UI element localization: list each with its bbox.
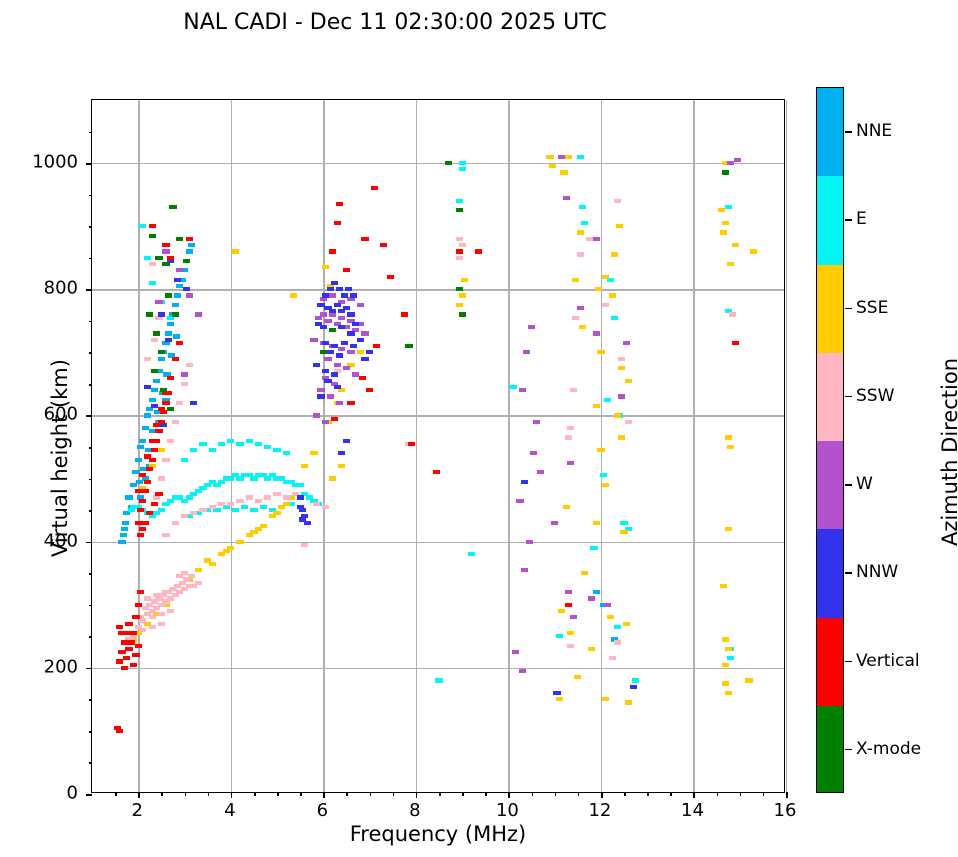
- echo-point: [144, 480, 151, 484]
- x-tick-minor: [485, 792, 487, 796]
- echo-point: [195, 568, 202, 572]
- y-tick-major: [86, 163, 92, 165]
- echo-point: [720, 230, 727, 234]
- echo-point: [727, 262, 734, 266]
- echo-point: [155, 429, 162, 433]
- echo-point: [614, 640, 621, 644]
- echo-point: [151, 369, 158, 373]
- echo-point: [625, 420, 632, 424]
- colorbar-segment-ssw[interactable]: [817, 353, 843, 442]
- echo-point: [590, 546, 597, 550]
- echo-point: [137, 533, 144, 537]
- echo-point: [456, 287, 463, 291]
- echo-point: [188, 243, 195, 247]
- echo-point: [183, 259, 190, 263]
- echo-point: [153, 423, 160, 427]
- colorbar-label-nne: NNE: [856, 121, 892, 141]
- colorbar: [816, 87, 844, 793]
- echo-point: [181, 458, 188, 462]
- echo-point: [602, 303, 609, 307]
- echo-point: [162, 401, 169, 405]
- echo-point: [246, 439, 253, 443]
- echo-point: [727, 656, 734, 660]
- echo-point: [260, 505, 267, 509]
- echo-point: [158, 350, 165, 354]
- echo-point: [123, 656, 130, 660]
- echo-point: [512, 650, 519, 654]
- y-tick-minor: [89, 352, 93, 354]
- echo-point: [158, 476, 165, 480]
- y-tick-major: [86, 415, 92, 417]
- echo-point: [361, 237, 368, 241]
- echo-point: [162, 533, 169, 537]
- y-tick-minor: [89, 384, 93, 386]
- echo-point: [604, 603, 611, 607]
- x-tick-minor: [740, 792, 742, 796]
- echo-point: [255, 442, 262, 446]
- echo-point: [526, 540, 533, 544]
- echo-point: [155, 300, 162, 304]
- echo-point: [509, 385, 516, 389]
- echo-point: [167, 407, 174, 411]
- colorbar-label-ssw: SSW: [856, 386, 894, 406]
- x-tick-label: 2: [132, 800, 143, 821]
- echo-point: [593, 331, 600, 335]
- y-tick-label: 800: [0, 278, 78, 299]
- x-tick-minor: [670, 792, 672, 796]
- echo-point: [725, 691, 732, 695]
- echo-point: [322, 341, 329, 345]
- echo-point: [158, 622, 165, 626]
- echo-point: [139, 499, 146, 503]
- echo-point: [135, 603, 142, 607]
- echo-point: [567, 644, 574, 648]
- echo-point: [223, 549, 230, 553]
- echo-point: [357, 303, 364, 307]
- echo-point: [593, 521, 600, 525]
- echo-point: [172, 521, 179, 525]
- echo-point: [299, 517, 306, 521]
- echo-point: [625, 700, 632, 704]
- echo-point: [135, 489, 142, 493]
- echo-point: [130, 631, 137, 635]
- x-tick-major: [693, 792, 695, 798]
- echo-point: [135, 644, 142, 648]
- echo-point: [310, 451, 317, 455]
- echo-point: [528, 325, 535, 329]
- echo-point: [149, 224, 156, 228]
- echo-point: [341, 293, 348, 297]
- echo-point: [186, 293, 193, 297]
- echo-point: [158, 612, 165, 616]
- echo-point: [456, 303, 463, 307]
- echo-point: [324, 357, 331, 361]
- echo-point: [151, 448, 158, 452]
- echo-point: [597, 350, 604, 354]
- echo-point: [722, 637, 729, 641]
- echo-point: [142, 489, 149, 493]
- y-tick-minor: [89, 226, 93, 228]
- echo-point: [341, 341, 348, 345]
- echo-point: [338, 451, 345, 455]
- x-tick-major: [416, 792, 418, 798]
- echo-point: [153, 593, 160, 597]
- echo-point: [357, 350, 364, 354]
- echo-point: [595, 287, 602, 291]
- echo-point: [456, 256, 463, 260]
- echo-point: [565, 603, 572, 607]
- echo-point: [118, 540, 125, 544]
- echo-point: [630, 685, 637, 689]
- echo-point: [116, 625, 123, 629]
- echo-point: [565, 435, 572, 439]
- echo-point: [718, 208, 725, 212]
- echo-point: [556, 697, 563, 701]
- echo-point: [533, 420, 540, 424]
- echo-point: [190, 448, 197, 452]
- echo-point: [255, 499, 262, 503]
- echo-point: [614, 625, 621, 629]
- echo-point: [329, 249, 336, 253]
- echo-point: [558, 609, 565, 613]
- echo-point: [273, 511, 280, 515]
- echo-point: [322, 369, 329, 373]
- echo-point: [218, 442, 225, 446]
- echo-point: [176, 268, 183, 272]
- echo-point: [579, 325, 586, 329]
- echo-point: [334, 363, 341, 367]
- echo-point: [301, 464, 308, 468]
- echo-point: [732, 341, 739, 345]
- echo-point: [722, 681, 729, 685]
- echo-point: [176, 341, 183, 345]
- echo-point: [371, 186, 378, 190]
- ionogram-plot-area: [91, 99, 785, 793]
- echo-point: [144, 413, 151, 417]
- x-tick-minor: [393, 792, 395, 796]
- echo-point: [188, 574, 195, 578]
- echo-point: [153, 379, 160, 383]
- echo-point: [297, 495, 304, 499]
- y-tick-minor: [89, 479, 93, 481]
- x-tick-major: [231, 792, 233, 798]
- echo-point: [118, 631, 125, 635]
- echo-point: [456, 237, 463, 241]
- x-tick-minor: [300, 792, 302, 796]
- x-tick-minor: [208, 792, 210, 796]
- echo-point: [516, 499, 523, 503]
- echo-point: [120, 533, 127, 537]
- echo-point: [725, 435, 732, 439]
- echo-point: [264, 445, 271, 449]
- echo-point: [435, 678, 442, 682]
- echo-point: [373, 344, 380, 348]
- echo-point: [227, 502, 234, 506]
- echo-point: [137, 590, 144, 594]
- echo-point: [366, 350, 373, 354]
- echo-point: [553, 691, 560, 695]
- echo-point: [181, 382, 188, 386]
- echo-point: [236, 499, 243, 503]
- echo-point: [456, 208, 463, 212]
- echo-point: [475, 249, 482, 253]
- echo-point: [137, 508, 144, 512]
- echo-point: [357, 338, 364, 342]
- y-tick-minor: [89, 636, 93, 638]
- echo-point: [614, 413, 621, 417]
- echo-point: [618, 435, 625, 439]
- echo-point: [144, 357, 151, 361]
- colorbar-segment-nne[interactable]: [817, 88, 843, 177]
- x-tick-minor: [763, 792, 765, 796]
- echo-point: [176, 401, 183, 405]
- echo-point: [142, 426, 149, 430]
- colorbar-label-w: W: [856, 474, 873, 494]
- echo-point: [167, 376, 174, 380]
- echo-point: [125, 622, 132, 626]
- echo-point: [162, 249, 169, 253]
- echo-point: [151, 502, 158, 506]
- echo-point: [331, 372, 338, 376]
- echo-point: [273, 492, 280, 496]
- colorbar-label: Azimuth Direction: [938, 202, 958, 702]
- echo-scatter-canvas: [92, 100, 784, 792]
- echo-point: [144, 454, 151, 458]
- colorbar-segment-vertical[interactable]: [817, 618, 843, 707]
- echo-point: [611, 252, 618, 256]
- x-tick-label: 8: [409, 800, 420, 821]
- colorbar-label-vertical: Vertical: [856, 651, 920, 671]
- echo-point: [151, 338, 158, 342]
- echo-point: [250, 508, 257, 512]
- colorbar-tick: [845, 219, 852, 221]
- echo-point: [137, 445, 144, 449]
- echo-point: [331, 281, 338, 285]
- echo-point: [725, 205, 732, 209]
- echo-point: [347, 331, 354, 335]
- y-tick-minor: [89, 573, 93, 575]
- y-tick-label: 200: [0, 656, 78, 677]
- echo-point: [459, 293, 466, 297]
- colorbar-tick: [845, 661, 852, 663]
- echo-point: [604, 398, 611, 402]
- echo-point: [173, 334, 180, 338]
- y-tick-label: 0: [0, 783, 78, 804]
- echo-point: [125, 647, 132, 651]
- echo-point: [581, 221, 588, 225]
- echo-point: [732, 243, 739, 247]
- colorbar-segment-w[interactable]: [817, 441, 843, 530]
- y-tick-minor: [89, 132, 93, 134]
- y-tick-label: 600: [0, 404, 78, 425]
- echo-point: [158, 448, 165, 452]
- y-tick-minor: [89, 321, 93, 323]
- echo-point: [343, 306, 350, 310]
- colorbar-segment-e[interactable]: [817, 176, 843, 265]
- echo-point: [563, 196, 570, 200]
- echo-point: [329, 328, 336, 332]
- x-tick-minor: [439, 792, 441, 796]
- y-tick-label: 1000: [0, 152, 78, 173]
- page-title: NAL CADI - Dec 11 02:30:00 2025 UTC: [0, 10, 790, 35]
- echo-point: [734, 158, 741, 162]
- echo-point: [593, 590, 600, 594]
- echo-point: [317, 394, 324, 398]
- echo-point: [343, 366, 350, 370]
- x-axis-label: Frequency (MHz): [91, 822, 785, 846]
- echo-point: [167, 609, 174, 613]
- echo-point: [602, 697, 609, 701]
- echo-point: [405, 344, 412, 348]
- echo-point: [320, 350, 327, 354]
- echo-point: [172, 303, 179, 307]
- y-tick-minor: [89, 195, 93, 197]
- echo-point: [567, 461, 574, 465]
- colorbar-segment-sse[interactable]: [817, 265, 843, 354]
- echo-point: [167, 256, 174, 260]
- echo-point: [158, 407, 165, 411]
- echo-point: [558, 155, 565, 159]
- echo-point: [549, 164, 556, 168]
- y-tick-minor: [89, 605, 93, 607]
- echo-point: [264, 495, 271, 499]
- colorbar-tick: [845, 131, 852, 133]
- echo-point: [313, 363, 320, 367]
- echo-point: [153, 331, 160, 335]
- echo-point: [125, 495, 132, 499]
- echo-point: [588, 596, 595, 600]
- echo-point: [283, 495, 290, 499]
- echo-point: [149, 398, 156, 402]
- echo-point: [144, 385, 151, 389]
- echo-point: [334, 385, 341, 389]
- echo-point: [324, 319, 331, 323]
- echo-point: [530, 451, 537, 455]
- echo-point: [165, 331, 172, 335]
- echo-point: [172, 357, 179, 361]
- echo-point: [165, 293, 172, 297]
- echo-point: [611, 316, 618, 320]
- echo-point: [236, 442, 243, 446]
- echo-point: [350, 293, 357, 297]
- y-tick-label: 400: [0, 530, 78, 551]
- colorbar-segment-nnw[interactable]: [817, 529, 843, 618]
- echo-point: [174, 293, 181, 297]
- x-tick-minor: [624, 792, 626, 796]
- echo-point: [729, 312, 736, 316]
- echo-point: [347, 312, 354, 316]
- echo-point: [551, 521, 558, 525]
- echo-point: [186, 249, 193, 253]
- echo-point: [144, 596, 151, 600]
- echo-point: [620, 530, 627, 534]
- echo-point: [727, 445, 734, 449]
- echo-point: [139, 527, 146, 531]
- echo-point: [445, 161, 452, 165]
- echo-point: [725, 527, 732, 531]
- x-tick-label: 16: [774, 800, 797, 821]
- x-tick-label: 10: [496, 800, 519, 821]
- x-tick-minor: [254, 792, 256, 796]
- echo-point: [322, 505, 329, 509]
- echo-point: [387, 275, 394, 279]
- echo-point: [320, 312, 327, 316]
- echo-point: [313, 502, 320, 506]
- echo-point: [722, 663, 729, 667]
- echo-point: [380, 243, 387, 247]
- x-tick-minor: [346, 792, 348, 796]
- echo-point: [130, 663, 137, 667]
- y-tick-major: [86, 542, 92, 544]
- x-tick-minor: [647, 792, 649, 796]
- echo-point: [320, 325, 327, 329]
- echo-point: [336, 202, 343, 206]
- echo-point: [722, 170, 729, 174]
- colorbar-tick: [845, 484, 852, 486]
- echo-point: [232, 508, 239, 512]
- echo-point: [162, 262, 169, 266]
- echo-point: [625, 379, 632, 383]
- echo-point: [343, 268, 350, 272]
- echo-point: [181, 372, 188, 376]
- echo-point: [167, 322, 174, 326]
- echo-point: [297, 505, 304, 509]
- colorbar-segment-x-mode[interactable]: [817, 706, 843, 793]
- echo-point: [567, 631, 574, 635]
- x-tick-minor: [277, 792, 279, 796]
- echo-point: [338, 325, 345, 329]
- echo-point: [232, 249, 239, 253]
- echo-point: [139, 439, 146, 443]
- x-tick-label: 14: [681, 800, 704, 821]
- echo-point: [172, 312, 179, 316]
- echo-point: [122, 521, 129, 525]
- echo-point: [322, 293, 329, 297]
- x-tick-label: 12: [588, 800, 611, 821]
- x-tick-major: [786, 792, 788, 798]
- echo-point: [322, 265, 329, 269]
- echo-point: [151, 388, 158, 392]
- echo-point: [577, 230, 584, 234]
- echo-point: [146, 511, 153, 515]
- echo-point: [149, 625, 156, 629]
- echo-point: [160, 388, 167, 392]
- x-tick-minor: [370, 792, 372, 796]
- echo-point: [195, 312, 202, 316]
- colorbar-label-x-mode: X-mode: [856, 739, 921, 759]
- echo-point: [519, 388, 526, 392]
- y-tick-major: [86, 289, 92, 291]
- echo-point: [195, 581, 202, 585]
- y-tick-minor: [89, 762, 93, 764]
- echo-point: [560, 170, 567, 174]
- echo-point: [546, 155, 553, 159]
- echo-point: [209, 562, 216, 566]
- echo-point: [565, 590, 572, 594]
- echo-point: [725, 647, 732, 651]
- echo-point: [149, 234, 156, 238]
- x-tick-minor: [717, 792, 719, 796]
- echo-point: [121, 527, 128, 531]
- echo-point: [620, 521, 627, 525]
- echo-point: [199, 508, 206, 512]
- echo-point: [310, 338, 317, 342]
- echo-point: [128, 508, 135, 512]
- echo-point: [162, 458, 169, 462]
- echo-point: [139, 628, 146, 632]
- echo-point: [176, 237, 183, 241]
- echo-point: [570, 388, 577, 392]
